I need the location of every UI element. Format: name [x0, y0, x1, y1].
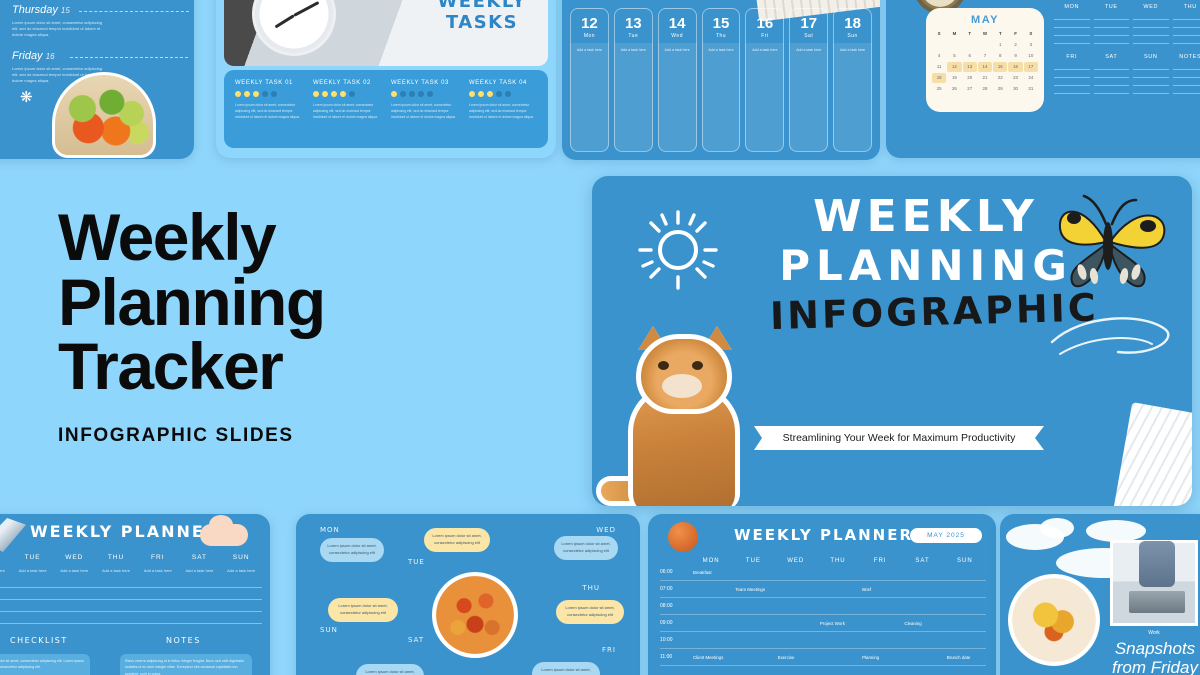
sparkle-icon: ❋ [20, 88, 33, 106]
schedule-time: 08:00 [660, 603, 690, 609]
thumbnail-daily-entries[interactable]: PLANNER MAY 2025 Thursday 15 Lorem ipsum… [0, 0, 194, 159]
day-name: Tue [618, 33, 649, 39]
schedule-cell[interactable]: Planning [859, 655, 901, 660]
day-name: Sun [837, 33, 868, 39]
notebook-sticker [1113, 402, 1192, 506]
bubble-day-mon: MON [320, 526, 340, 534]
planner-section[interactable]: SUN [1133, 54, 1169, 94]
day-name: Mon [574, 33, 605, 39]
schedule-title: WEEKLY PLANNER [734, 526, 913, 544]
hero-title-line-1: WEEKLY [770, 194, 1082, 240]
day-column[interactable]: 18 Sun Add a task here [833, 8, 872, 152]
person-legs [1139, 541, 1175, 587]
day-task[interactable]: Add a task here [793, 48, 824, 52]
task-body: Lorem ipsum dolor sit amet, consectetur … [391, 103, 459, 120]
day-task[interactable]: Add a task here [618, 48, 649, 52]
speech-bubble[interactable]: Lorem ipsum dolor sit amet, consectetur … [532, 662, 600, 675]
day-entry-thursday: Thursday 15 [12, 4, 70, 16]
snapshots-caption: Snapshots from Friday [1096, 640, 1200, 675]
table-row[interactable]: 06:00 Breakfast [660, 564, 986, 581]
cloud-icon [1040, 518, 1074, 538]
schedule-cell[interactable]: Team Meetings [732, 587, 774, 592]
notes-label: NOTES [166, 636, 201, 645]
speech-bubble[interactable]: Lorem ipsum dolor sit amet, consectetur … [320, 538, 384, 562]
thumbnail-planner-checklist[interactable]: WEEKLY PLANNER MON Add a task here TUE A… [0, 514, 270, 675]
day-task[interactable]: Add a task here [837, 48, 868, 52]
work-photo [1110, 540, 1198, 626]
planner-day-headers: MON Add a task here TUE Add a task here … [0, 554, 262, 573]
pizza-photo [432, 572, 518, 658]
day-task[interactable]: Add a task here [574, 48, 605, 52]
planner-day[interactable]: FRI Add a task here [137, 554, 179, 573]
day-column[interactable]: 13 Tue Add a task here [614, 8, 653, 152]
day-number: 17 [793, 15, 824, 32]
cat-eye-left [658, 361, 669, 370]
table-row[interactable]: 07:00 Team Meetings Brief [660, 581, 986, 598]
schedule-cell[interactable]: Exercise [775, 655, 817, 660]
schedule-month-chip: MAY 2025 [910, 528, 982, 543]
task-body: Lorem ipsum dolor sit amet, consectetur … [313, 103, 381, 120]
planner-ruled-lines [0, 576, 262, 626]
day-number: 18 [837, 15, 868, 32]
mini-calendar-grid: S M T W T F S 1 2 3 4 5 6 7 8 9 10 [932, 29, 1038, 94]
slide-preview-canvas: PLANNER MAY 2025 Thursday 15 Lorem ipsum… [0, 0, 1200, 675]
feather-pen-icon [0, 518, 26, 552]
schedule-col-mon: MON [690, 558, 732, 564]
cat-cutout [600, 334, 766, 506]
cloud-icon [200, 524, 248, 546]
planner-section[interactable]: MON [1054, 4, 1090, 44]
table-row[interactable]: 10:00 [660, 632, 986, 649]
planner-day[interactable]: THU Add a task here [95, 554, 137, 573]
day-name: Thu [706, 33, 737, 39]
bubble-day-sun: SUN [320, 626, 338, 634]
schedule-time: 09:00 [660, 620, 690, 626]
day-column[interactable]: 15 Thu Add a task here [702, 8, 741, 152]
thumbnail-snapshots[interactable]: Work Snapshots from Friday [1000, 514, 1200, 675]
thumbnail-speech-bubbles[interactable]: MON TUE WED THU FRI SAT SUN Lorem ipsum … [296, 514, 640, 675]
checklist-label: CHECKLIST [10, 636, 68, 645]
task-label: WEEKLY TASK 02 [313, 80, 381, 86]
day-number: 16 [749, 15, 780, 32]
task-columns: WEEKLY TASK 01 Lorem ipsum dolor sit ame… [224, 70, 548, 148]
day-name: Wed [662, 33, 693, 39]
table-row[interactable]: 09:00 Project Work Cleaning [660, 615, 986, 632]
day-column[interactable]: 17 Sat Add a task here [789, 8, 828, 152]
day-name: Sat [793, 33, 824, 39]
work-label: Work [1110, 630, 1198, 636]
day-entry-friday: Friday 16 [12, 50, 55, 62]
schedule-time: 11:00 [660, 654, 690, 660]
thumbnail-may-calendar[interactable]: MAY 2025 12 Mon Add a task here 13 Tue A… [562, 0, 880, 160]
bubble-day-tue: TUE [408, 558, 425, 566]
task-label: WEEKLY TASK 01 [235, 80, 303, 86]
cat-eye-right [692, 361, 703, 370]
schedule-time: 10:00 [660, 637, 690, 643]
speech-bubble[interactable]: Lorem ipsum dolor sit amet, consectetur … [556, 600, 624, 624]
schedule-col-sun: SUN [944, 558, 986, 564]
mini-calendar[interactable]: MAY S M T W T F S 1 2 3 4 5 6 7 8 [926, 8, 1044, 112]
schedule-cell[interactable]: Client Meetings [690, 655, 732, 660]
planner-day[interactable]: SUN Add a task here [220, 554, 262, 573]
day-number: 14 [662, 15, 693, 32]
wave-divider [79, 11, 189, 15]
weekly-tasks-title: WEEKLY TASKS [422, 0, 542, 33]
day-task[interactable]: Add a task here [706, 48, 737, 52]
cloud-icon [1086, 520, 1146, 542]
schedule-cell[interactable]: Cleaning [901, 621, 943, 626]
schedule-cell[interactable]: Brunch date [944, 655, 986, 660]
hero-title-line-3: INFOGRAPHIC [770, 289, 1083, 337]
schedule-time: 07:00 [660, 586, 690, 592]
laptop-icon [1129, 591, 1185, 613]
sun-icon [636, 208, 720, 292]
page-title: Weekly Planning Tracker [58, 205, 478, 399]
speech-bubble[interactable]: Lorem ipsum dolor sit amet, consectetur … [424, 528, 490, 552]
day-column[interactable]: 14 Wed Add a task here [658, 8, 697, 152]
checklist-box[interactable]: Lorem ipsum dolor sit amet, consectetur … [0, 654, 90, 675]
hero-slide-card[interactable]: WEEKLY PLANNING INFOGRAPHIC Streamlining… [592, 176, 1192, 506]
day-name: Fri [749, 33, 780, 39]
planner-day[interactable]: SAT Add a task here [179, 554, 221, 573]
table-row[interactable]: 11:00 Client Meetings Exercise Planning … [660, 649, 986, 666]
day-number: 12 [574, 15, 605, 32]
task-rating-dots[interactable] [313, 91, 381, 97]
bubble-day-fri: FRI [602, 646, 616, 654]
task-rating-dots[interactable] [469, 91, 537, 97]
task-rating-dots[interactable] [391, 91, 459, 97]
schedule-col-thu: THU [817, 558, 859, 564]
table-row[interactable]: 08:00 [660, 598, 986, 615]
schedule-cell[interactable]: Project Work [817, 621, 859, 626]
hero-title-line-2: PLANNING [770, 244, 1082, 288]
schedule-table: MON TUE WED THU FRI SAT SUN 06:00 Breakf… [660, 558, 986, 675]
schedule-cell[interactable]: Breakfast [690, 570, 732, 575]
task-body: Lorem ipsum dolor sit amet, consectetur … [235, 103, 303, 120]
speech-bubble[interactable]: Lorem ipsum dolor sit amet, consectetur … [328, 598, 398, 622]
may-day-columns: 12 Mon Add a task here 13 Tue Add a task… [570, 8, 872, 152]
task-column[interactable]: WEEKLY TASK 02 Lorem ipsum dolor sit ame… [308, 80, 386, 138]
task-label: WEEKLY TASK 03 [391, 80, 459, 86]
wave-divider [70, 57, 188, 61]
day-number: 13 [618, 15, 649, 32]
schedule-header: WEEKLY PLANNER MAY 2025 [656, 522, 988, 552]
weekly-planner-sections: MON TUE WED THU FRI [1054, 4, 1200, 148]
planner-section[interactable]: WED [1133, 4, 1169, 44]
day-column[interactable]: 12 Mon Add a task here [570, 8, 609, 152]
schedule-col-sat: SAT [901, 558, 943, 564]
task-rating-dots[interactable] [235, 91, 303, 97]
day-number: 15 [706, 15, 737, 32]
notes-box[interactable]: Risus viverra adipiscing at in tellus in… [120, 654, 252, 675]
task-column[interactable]: WEEKLY TASK 01 Lorem ipsum dolor sit ame… [230, 80, 308, 138]
thumbnail-weekly-schedule[interactable]: WEEKLY PLANNER MAY 2025 MON TUE WED THU … [648, 514, 996, 675]
basketball-icon [668, 522, 698, 552]
schedule-cell[interactable]: Brief [859, 587, 901, 592]
planner-section[interactable]: SAT [1094, 54, 1130, 94]
planner-day[interactable]: WED Add a task here [53, 554, 95, 573]
speech-bubble[interactable]: Lorem ipsum dolor sit amet, consectetur … [356, 664, 424, 675]
planner-day[interactable]: TUE Add a task here [12, 554, 54, 573]
planner-section[interactable]: TUE [1094, 4, 1130, 44]
task-column[interactable]: WEEKLY TASK 04 Lorem ipsum dolor sit ame… [464, 80, 542, 138]
mini-calendar-month: MAY [932, 14, 1038, 26]
pasta-bowl-photo [1008, 574, 1100, 666]
task-body: Lorem ipsum dolor sit amet, consectetur … [469, 103, 537, 120]
task-column[interactable]: WEEKLY TASK 03 Lorem ipsum dolor sit ame… [386, 80, 464, 138]
cat-muzzle [662, 374, 702, 398]
task-label: WEEKLY TASK 04 [469, 80, 537, 86]
page-subtitle: INFOGRAPHIC SLIDES [58, 425, 478, 447]
schedule-col-tue: TUE [732, 558, 774, 564]
schedule-col-wed: WED [775, 558, 817, 564]
thumbnail-weekly-planner-calendar[interactable]: WEEKLY PLANNER MAY S M T W T F S 1 2 3 4… [886, 0, 1200, 158]
day-column[interactable]: 16 Fri Add a task here [745, 8, 784, 152]
day-entry-thursday-body: Lorem ipsum dolor sit amet, consectetur … [12, 20, 108, 39]
bubble-day-sat: SAT [408, 636, 424, 644]
day-task[interactable]: Add a task here [662, 48, 693, 52]
bubble-day-wed: WED [596, 526, 616, 534]
title-block: Weekly Planning Tracker INFOGRAPHIC SLID… [58, 205, 478, 447]
schedule-column-headers: MON TUE WED THU FRI SAT SUN [660, 558, 986, 564]
clock-icon [252, 0, 336, 56]
schedule-time: 06:00 [660, 569, 690, 575]
day-task[interactable]: Add a task here [749, 48, 780, 52]
planner-section[interactable]: THU [1173, 4, 1200, 44]
planner-title: WEEKLY PLANNER [30, 522, 219, 541]
planner-section-notes[interactable]: NOTES [1173, 54, 1200, 94]
hero-subtitle-banner: Streamlining Your Week for Maximum Produ… [754, 426, 1044, 450]
hero-title-group: WEEKLY PLANNING INFOGRAPHIC [770, 194, 1082, 333]
bubble-day-thu: THU [582, 584, 600, 592]
thumbnail-weekly-tasks[interactable]: WEEKLY TASKS WEEKLY TASK 01 Lorem ipsum … [216, 0, 556, 158]
fruit-basket-photo [52, 72, 156, 158]
planner-day[interactable]: MON Add a task here [0, 554, 12, 573]
schedule-col-fri: FRI [859, 558, 901, 564]
speech-bubble[interactable]: Lorem ipsum dolor sit amet, consectetur … [554, 536, 618, 560]
planner-section[interactable]: FRI [1054, 54, 1090, 94]
